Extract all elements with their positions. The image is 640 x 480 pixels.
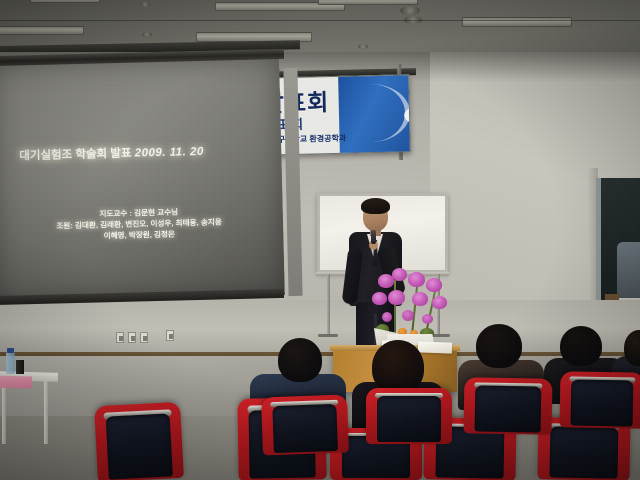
lower-wall	[0, 300, 640, 358]
chair-cushion	[272, 404, 337, 454]
chair-r2-c3[interactable]	[464, 377, 553, 435]
audience-member-4-head	[560, 326, 602, 366]
chair-r2-c4[interactable]	[560, 371, 640, 428]
ceiling-light-panel	[462, 17, 572, 27]
ceiling-light-panel	[30, 0, 100, 3]
wall-outlet	[128, 332, 136, 343]
ceiling-vent	[400, 6, 420, 15]
slide-title-date: 2009. 11. 20	[135, 146, 204, 160]
orchid-bloom	[392, 268, 407, 281]
chair-cushion	[549, 427, 618, 479]
orchid-bloom	[426, 278, 442, 292]
ceiling	[0, 0, 640, 58]
whiteboard-leg	[327, 274, 330, 336]
orchid-bloom	[412, 292, 428, 306]
banner-swoosh-graphic	[338, 74, 411, 155]
chair-cushion	[377, 396, 441, 442]
orchid-bud	[422, 314, 433, 324]
whiteboard-foot	[318, 334, 338, 337]
slide-title-text: 대기실험조 학술회 발표	[19, 148, 131, 163]
orchid-bloom	[408, 272, 425, 287]
ceiling-seam	[0, 20, 640, 21]
seminar-room-photo: 발표회 발표회 : 대구대학교 환경공학과 대기실험조 학술회 발표 2009.…	[0, 0, 640, 480]
orchid-bud	[402, 310, 414, 321]
side-table-leg	[44, 378, 48, 444]
orchid-bloom	[432, 296, 447, 309]
microphone-icon	[371, 230, 376, 244]
sprinkler-head	[142, 32, 152, 37]
bottle-cap	[7, 348, 14, 353]
chair-r2-c1[interactable]	[261, 395, 349, 456]
flower-stem	[394, 280, 396, 338]
presenter-hair	[361, 198, 390, 214]
wall-outlet	[166, 330, 174, 341]
ceiling-light-panel	[0, 26, 84, 35]
orchid-bloom	[372, 292, 387, 305]
white-papers	[418, 341, 452, 353]
orchid-bloom	[388, 290, 405, 305]
wall-outlet	[116, 332, 124, 343]
person-in-doorway	[617, 242, 640, 298]
sprinkler-head	[140, 2, 150, 7]
ceiling-light-panel	[318, 0, 418, 5]
sprinkler-head	[358, 44, 368, 49]
water-bottle	[6, 352, 15, 374]
screen-shading	[0, 57, 285, 302]
chair-r2-c2[interactable]	[366, 388, 452, 444]
audience-member-1-head	[278, 338, 322, 382]
projection-screen: 대기실험조 학술회 발표 2009. 11. 20 지도교수 : 김문현 교수님…	[0, 57, 285, 302]
side-table-leg	[2, 378, 6, 444]
dark-cup	[16, 360, 24, 374]
chair-r1-c1[interactable]	[94, 402, 184, 480]
pink-handout	[0, 376, 32, 389]
audience-member-3-head	[476, 324, 522, 368]
audience-member-2-head	[372, 340, 424, 394]
orchid-bud	[382, 312, 392, 322]
chair-cushion	[475, 386, 541, 433]
wall-outlet	[140, 332, 148, 343]
chair-cushion	[106, 414, 173, 480]
chair-cushion	[570, 380, 633, 427]
